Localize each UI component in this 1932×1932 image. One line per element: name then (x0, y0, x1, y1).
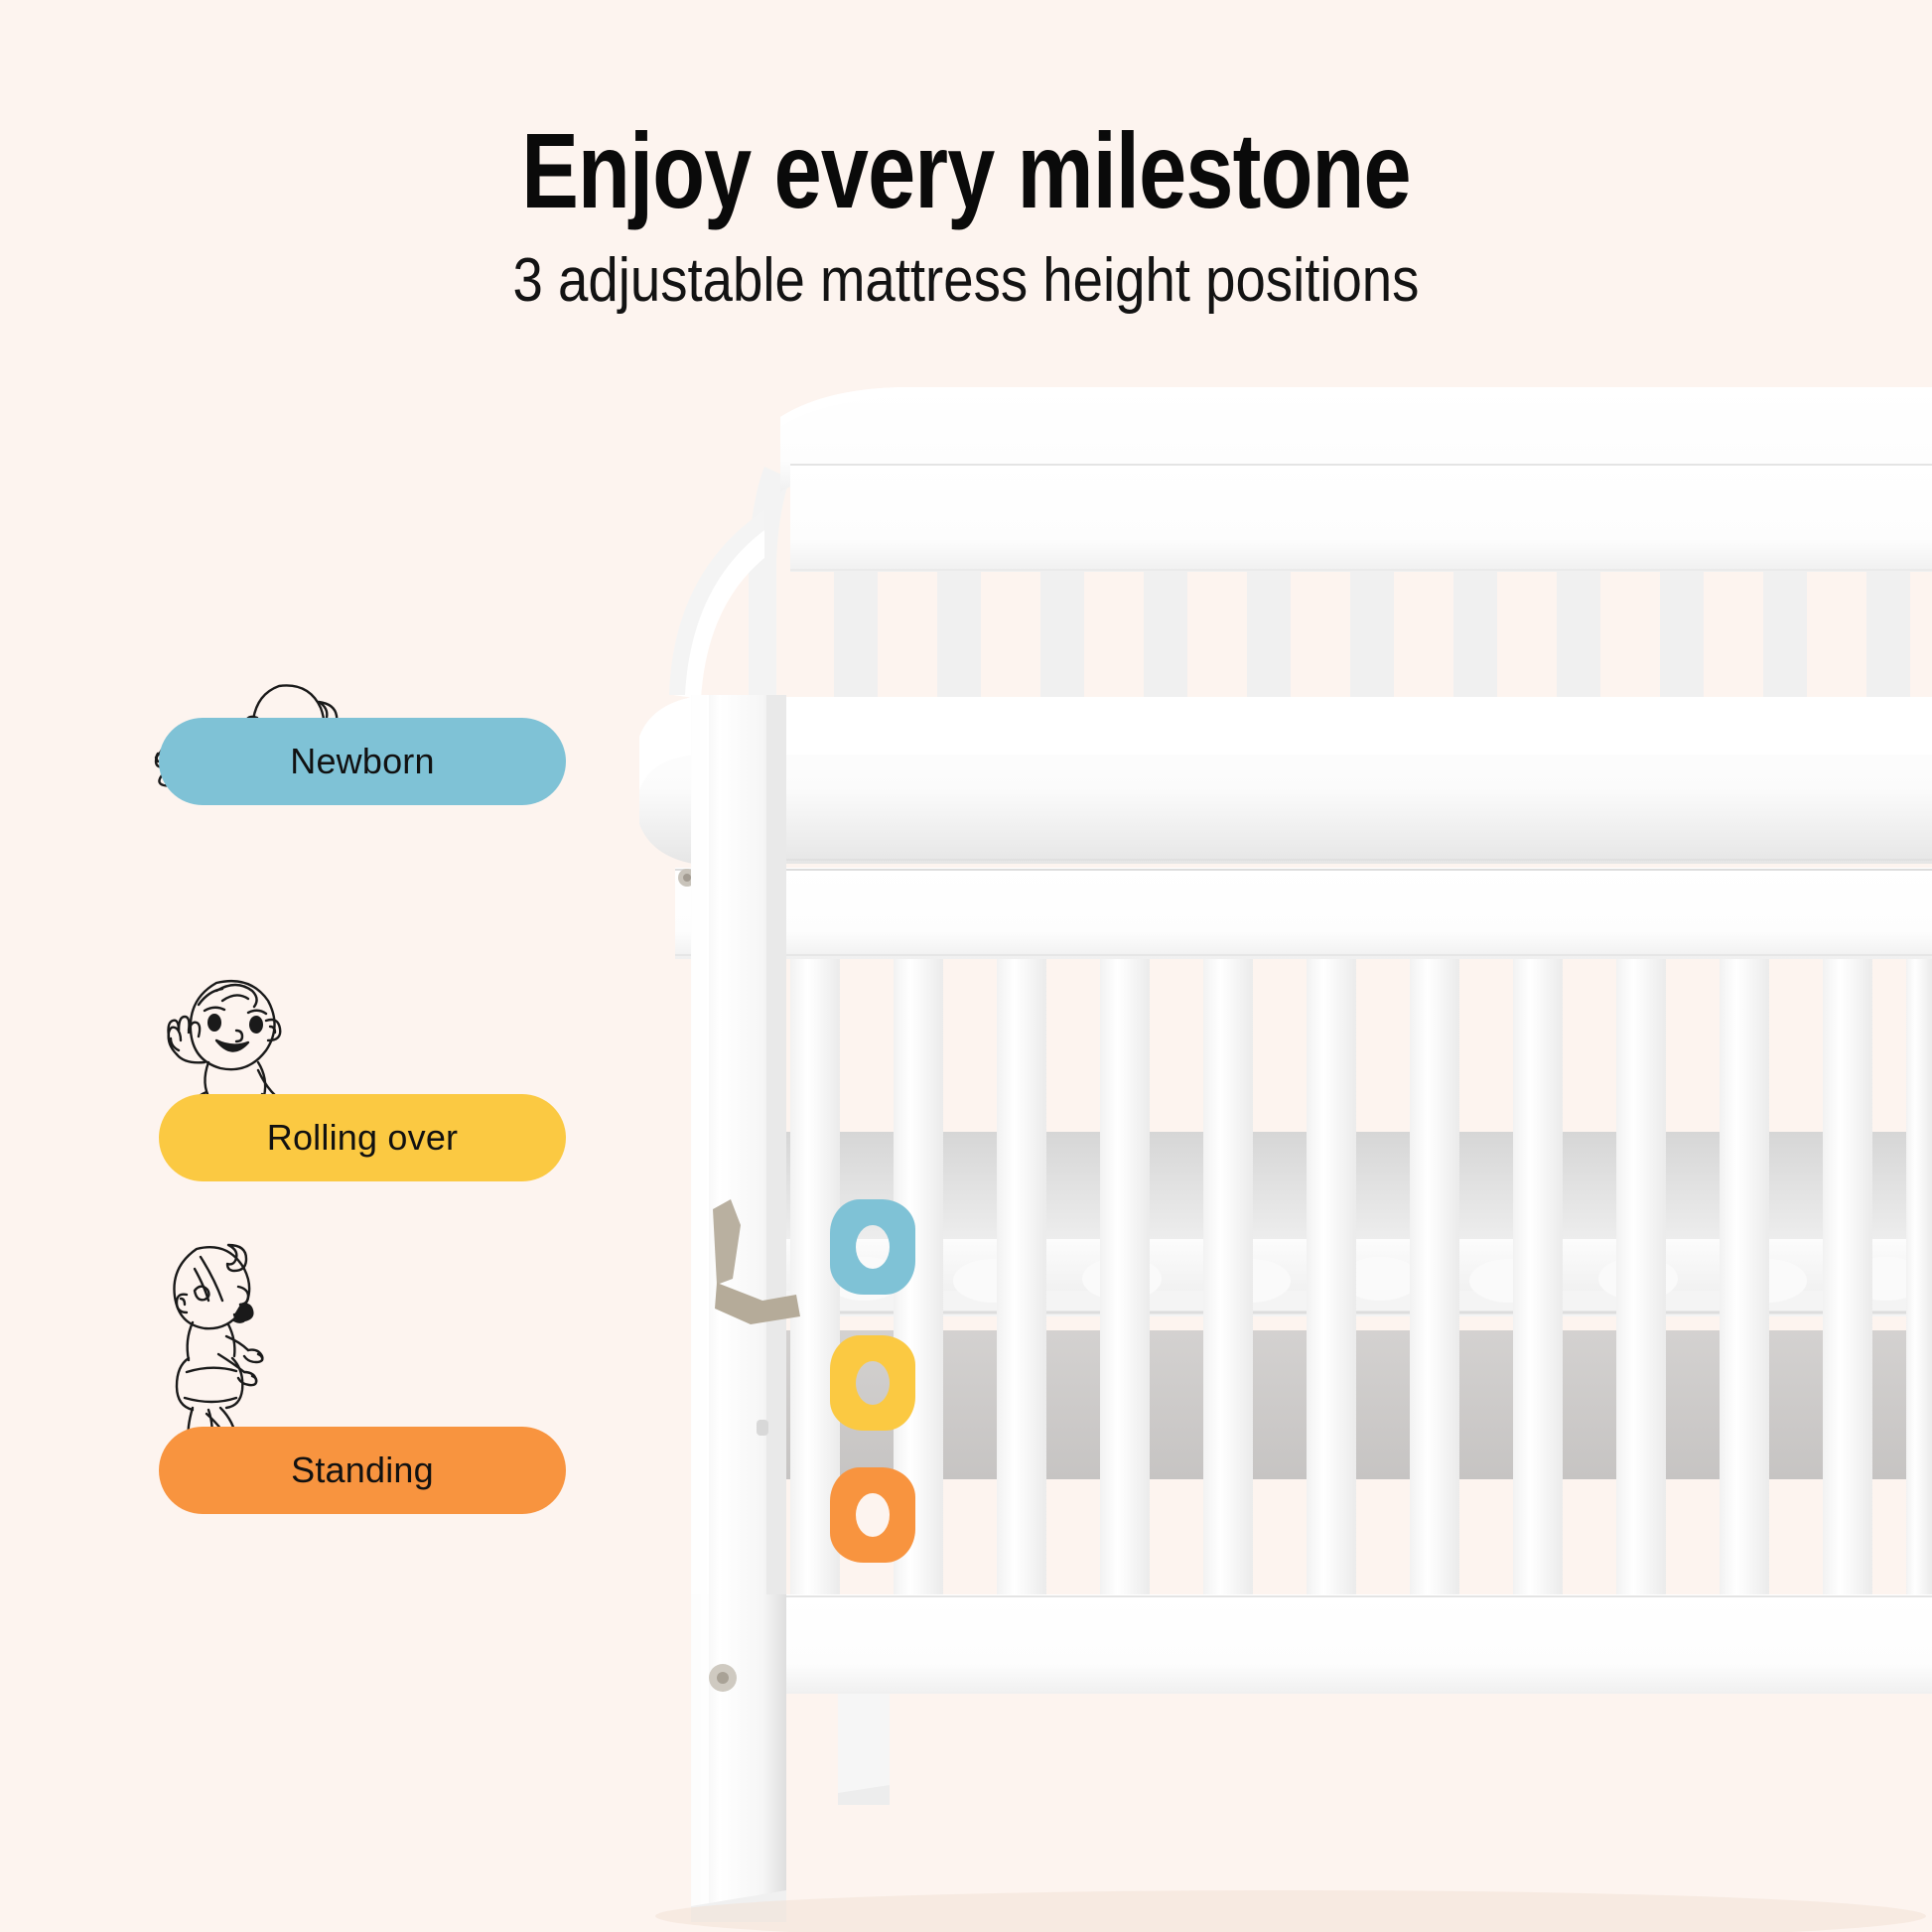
milestone-label-standing: Standing (291, 1449, 434, 1491)
milestone-pill-standing[interactable]: Standing (159, 1427, 566, 1514)
milestone-list: Newborn (0, 0, 755, 1932)
baby-walking-standing-icon (167, 1239, 276, 1452)
infographic-canvas: Enjoy every milestone 3 adjustable mattr… (0, 0, 1932, 1932)
milestone-pill-newborn[interactable]: Newborn (159, 718, 566, 805)
milestone-label-newborn: Newborn (290, 741, 434, 782)
milestone-pill-rolling-over[interactable]: Rolling over (159, 1094, 566, 1181)
milestone-label-rolling-over: Rolling over (267, 1117, 459, 1159)
